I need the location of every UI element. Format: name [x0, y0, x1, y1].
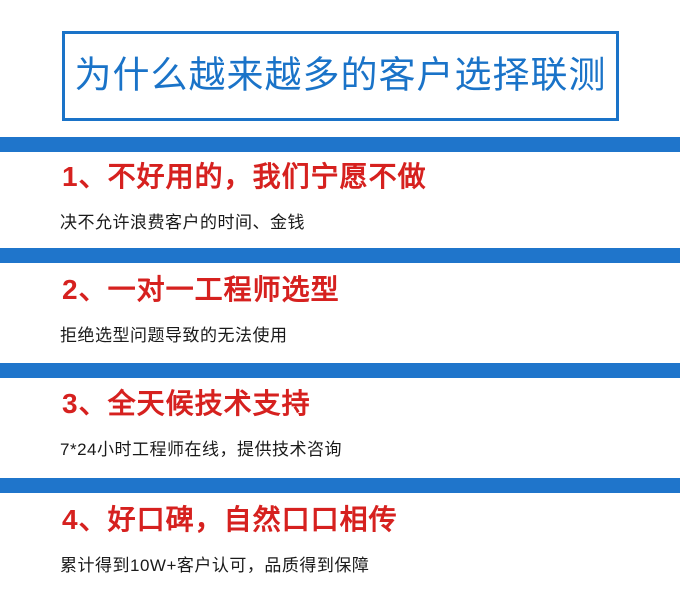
feature-title-4: 4、好口碑，自然口口相传 [0, 500, 680, 540]
feature-title-2: 2、一对一工程师选型 [0, 270, 680, 310]
promo-page: 为什么越来越多的客户选择联测 1、不好用的，我们宁愿不做 决不允许浪费客户的时间… [0, 0, 680, 598]
feature-title-1: 1、不好用的，我们宁愿不做 [0, 157, 680, 197]
feature-item-1: 1、不好用的，我们宁愿不做 决不允许浪费客户的时间、金钱 [0, 157, 680, 235]
divider-bar-4 [0, 478, 680, 493]
feature-title-3: 3、全天候技术支持 [0, 384, 680, 424]
feature-desc-3: 7*24小时工程师在线，提供技术咨询 [0, 424, 680, 462]
divider-bar-1 [0, 137, 680, 152]
header-box: 为什么越来越多的客户选择联测 [62, 31, 619, 121]
divider-bar-2 [0, 248, 680, 263]
feature-desc-4: 累计得到10W+客户认可，品质得到保障 [0, 540, 680, 578]
page-title: 为什么越来越多的客户选择联测 [65, 56, 616, 97]
feature-item-4: 4、好口碑，自然口口相传 累计得到10W+客户认可，品质得到保障 [0, 500, 680, 578]
feature-desc-1: 决不允许浪费客户的时间、金钱 [0, 197, 680, 235]
divider-bar-3 [0, 363, 680, 378]
feature-item-3: 3、全天候技术支持 7*24小时工程师在线，提供技术咨询 [0, 384, 680, 462]
feature-desc-2: 拒绝选型问题导致的无法使用 [0, 310, 680, 348]
feature-item-2: 2、一对一工程师选型 拒绝选型问题导致的无法使用 [0, 270, 680, 348]
